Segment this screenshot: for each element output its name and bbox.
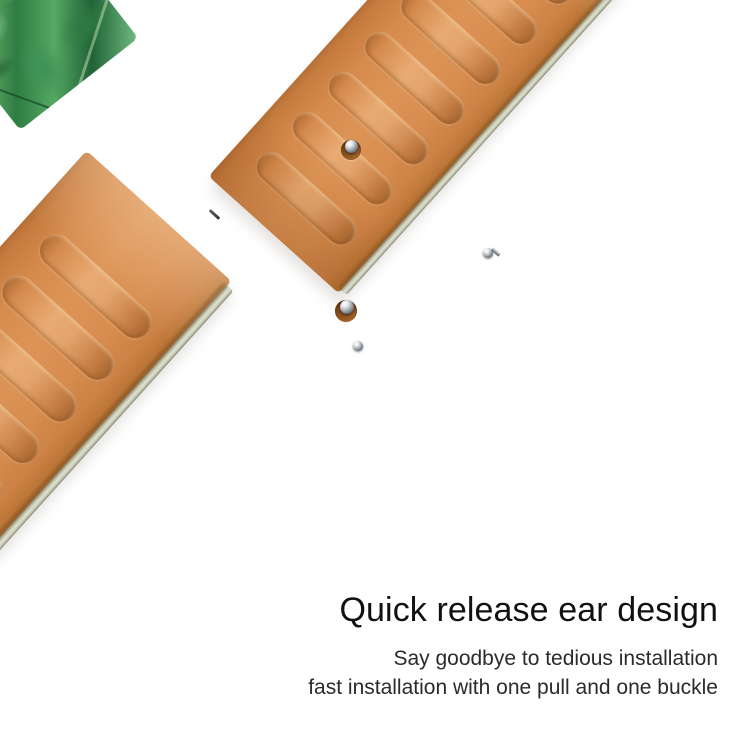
lower-band-tip-needle: [209, 209, 221, 220]
subtitle-block: Say goodbye to tedious installation fast…: [308, 644, 718, 702]
lower-band-ribs: [0, 151, 231, 742]
lower-watch-band: [0, 151, 231, 742]
upper-watch-band: [209, 0, 627, 293]
lower-band-surface: [0, 151, 231, 742]
subtitle-line-1: Say goodbye to tedious installation: [308, 644, 718, 673]
product-marketing-image: Quick release ear design Say goodbye to …: [0, 0, 750, 750]
subtitle-line-2: fast installation with one pull and one …: [308, 673, 718, 702]
headline: Quick release ear design: [308, 590, 718, 630]
caption-block: Quick release ear design Say goodbye to …: [308, 590, 718, 702]
leaf-print-strap-corner: [0, 0, 138, 130]
